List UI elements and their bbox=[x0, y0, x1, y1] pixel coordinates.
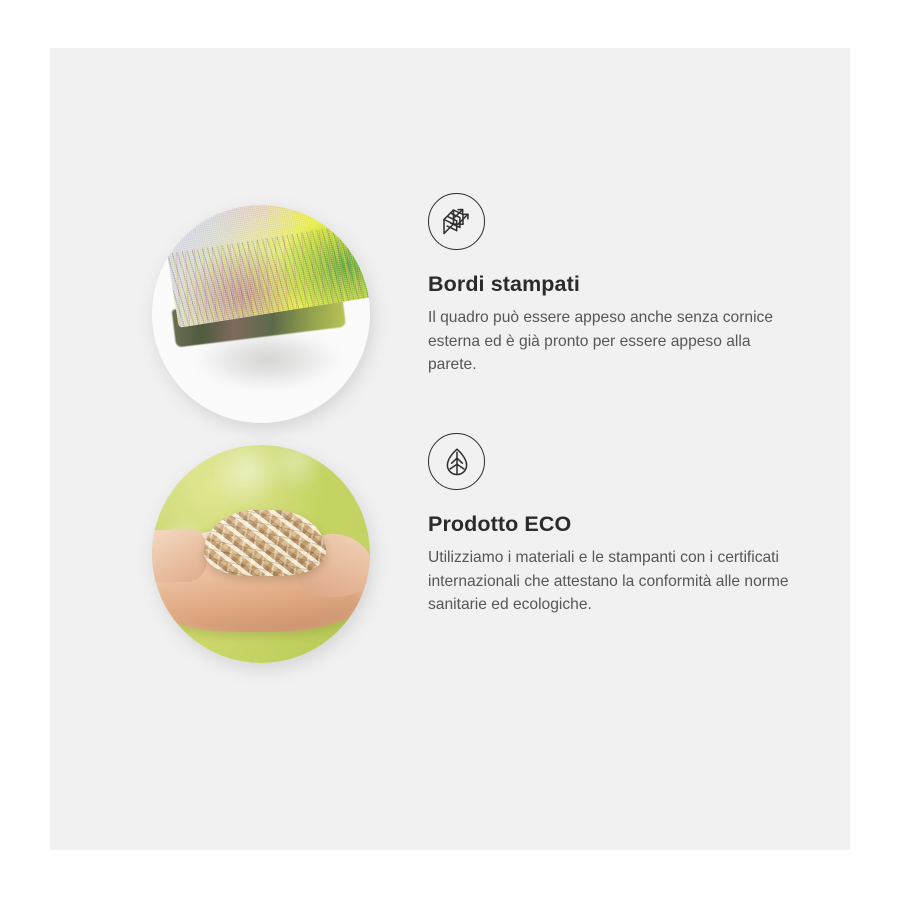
leaf-icon bbox=[428, 433, 485, 490]
feature-1-content: Bordi stampati Il quadro può essere appe… bbox=[428, 193, 828, 377]
feature-2-content: Prodotto ECO Utilizziamo i materiali e l… bbox=[428, 433, 828, 617]
printed-edges-icon bbox=[428, 193, 485, 250]
printed-edges-glyph bbox=[440, 205, 474, 239]
feature-description: Il quadro può essere appeso anche senza … bbox=[428, 306, 798, 377]
wood-chips-shape bbox=[204, 510, 326, 575]
canvas-print-photo bbox=[152, 205, 370, 423]
feature-eco-product: Prodotto ECO Utilizziamo i materiali e l… bbox=[50, 433, 850, 693]
eco-hands-image bbox=[152, 445, 370, 663]
page-root: Bordi stampati Il quadro può essere appe… bbox=[0, 0, 900, 900]
feature-title: Bordi stampati bbox=[428, 272, 828, 297]
feature-description: Utilizziamo i materiali e le stampanti c… bbox=[428, 546, 798, 617]
feature-printed-edges: Bordi stampati Il quadro può essere appe… bbox=[50, 193, 850, 453]
canvas-print-image bbox=[152, 205, 370, 423]
leaf-glyph bbox=[441, 446, 473, 478]
canvas-block bbox=[152, 205, 370, 423]
content-panel: Bordi stampati Il quadro può essere appe… bbox=[50, 48, 850, 850]
eco-hands-photo bbox=[152, 445, 370, 663]
feature-title: Prodotto ECO bbox=[428, 512, 828, 537]
